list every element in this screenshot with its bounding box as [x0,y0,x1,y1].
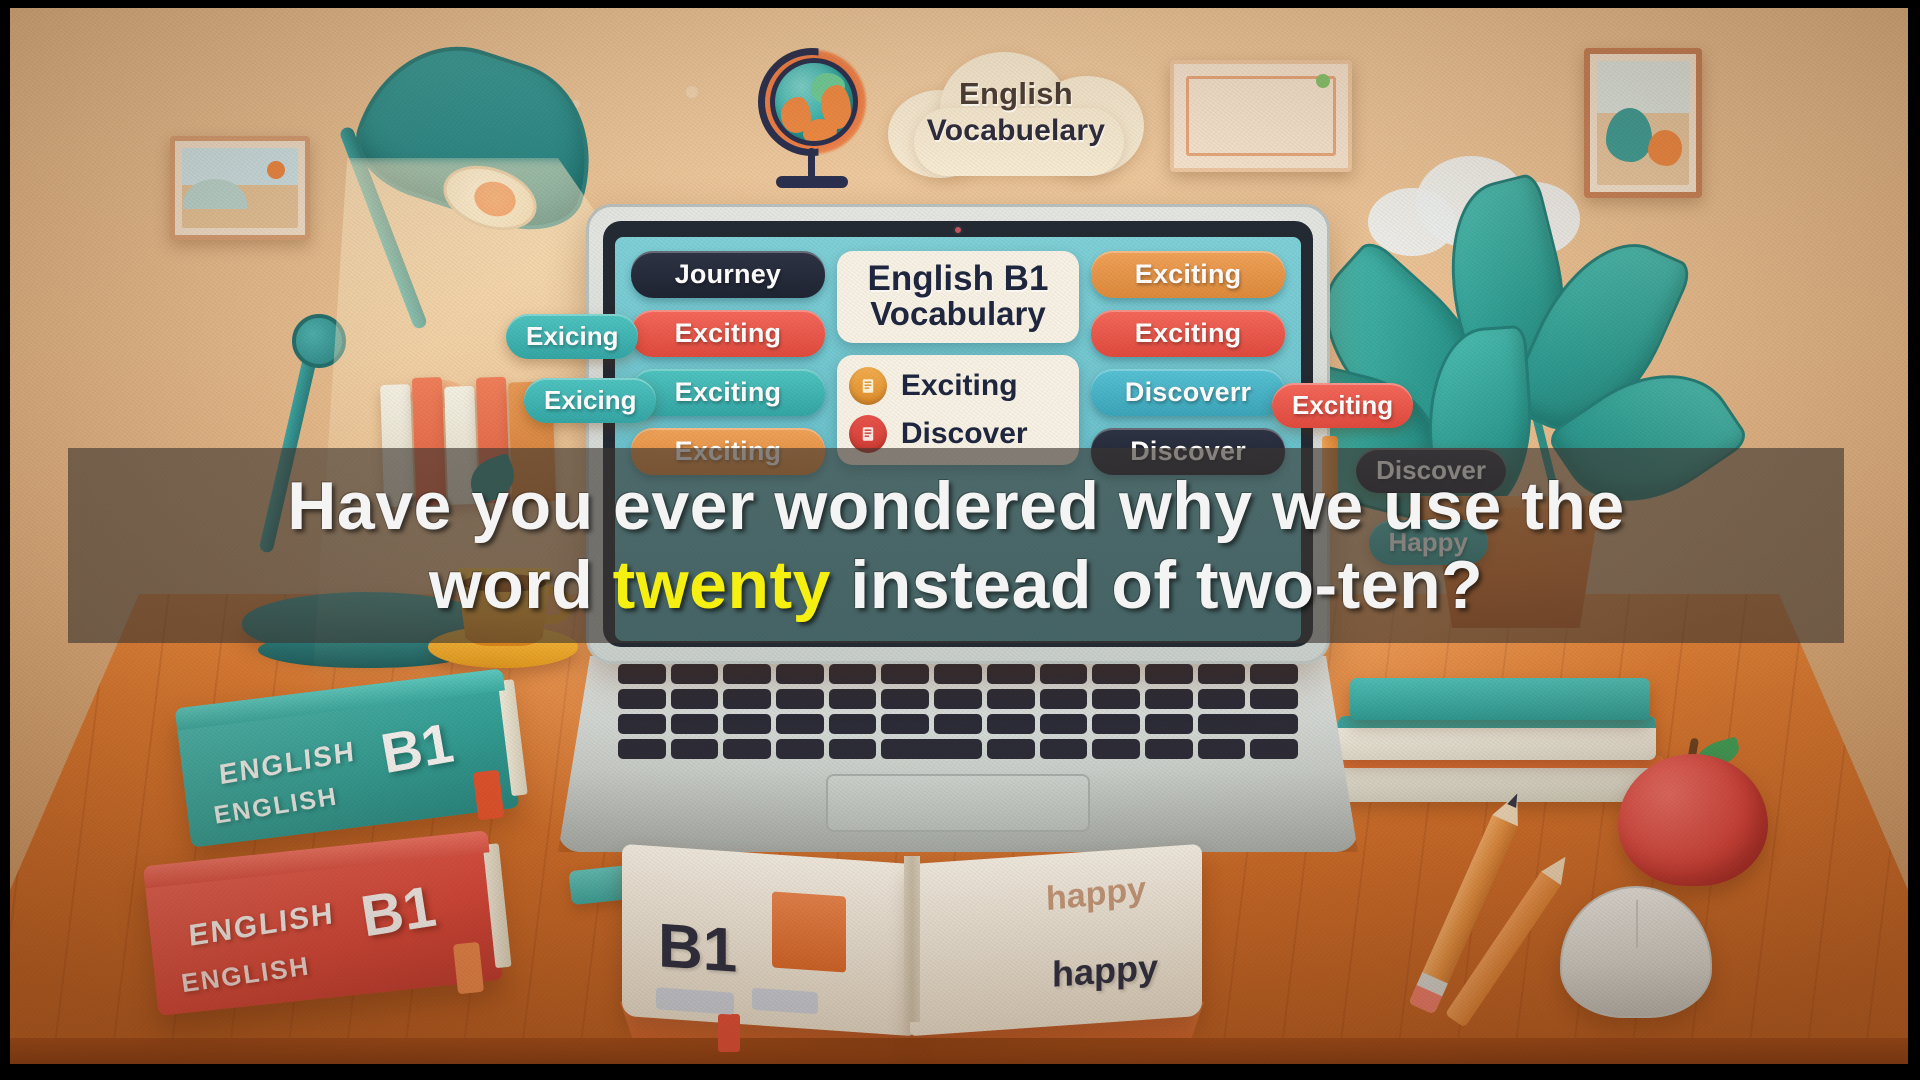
book-title-top: ENGLISH [218,735,357,791]
laptop-base [558,656,1358,852]
letterbox-bar-top [0,0,1920,8]
screen-title-line1: English B1 [849,261,1067,297]
screen-chip[interactable]: Discoverr [1091,369,1285,416]
notebook-word: happy [1052,946,1158,995]
notebook-color-block [772,891,846,972]
tag-exicing-left-2: Exicing [524,378,656,423]
list-item-label: Exciting [901,369,1018,403]
pillarbox-bar-left [0,0,10,1080]
list-item-label: Discover [901,417,1028,451]
wall-art-abstract-right [1584,48,1702,198]
letterbox-bar-bottom [0,1064,1920,1080]
notebook-level-label: B1 [658,910,737,987]
screen-chip[interactable]: Exciting [631,310,825,357]
art-blob-teal [1606,108,1652,162]
art-leaf-dot [1316,74,1330,88]
screen-chip[interactable]: Exciting [631,369,825,416]
laptop-trackpad[interactable] [826,774,1090,832]
book-spine-label: ENGLISH [212,782,340,830]
screen-chip[interactable]: Exciting [1091,310,1285,357]
open-notebook: B1 happy happy [622,846,1202,1026]
tag-exciting-signpost: Exciting [1272,383,1413,428]
book-icon [849,367,887,405]
book-level-label: B1 [356,873,440,951]
caption-line-1: Have you ever wondered why we use the [287,468,1624,544]
screen-title-card: English B1 Vocabulary [837,251,1079,343]
screen-chip[interactable]: Exciting [1091,251,1285,298]
globe-icon [752,44,874,196]
video-frame: English Vocabuelary [0,0,1920,1080]
title-cloud-badge: English Vocabuelary [888,46,1144,178]
book-title-top: ENGLISH [188,897,336,954]
notebook-sticker [752,988,818,1015]
screen-title-line2: Vocabulary [849,297,1067,332]
title-cloud-line2: Vocabuelary [927,114,1105,148]
desk-edge [10,1038,1908,1064]
wall-art-abstract-top [1170,60,1352,172]
webcam-icon [953,225,963,235]
caption-text-before: word [429,547,613,623]
caption-highlight-word: twenty [613,547,831,623]
laptop-keyboard [618,664,1298,759]
tag-exicing-left: Exicing [506,314,638,359]
book-spine-label: ENGLISH [179,950,312,999]
art-blob-orange [1648,130,1682,166]
list-item[interactable]: Exciting [849,367,1067,405]
caption-line-2: word twenty instead of two-ten? [429,547,1483,623]
subtitle-caption: Have you ever wondered why we use the wo… [68,448,1844,643]
wall-doodle-dot [686,86,698,98]
art-inner-border [1186,76,1336,156]
screen-chip[interactable]: Journey [631,251,825,298]
stacked-books [1328,664,1668,814]
title-cloud-line1: English [959,76,1073,112]
apple [1618,736,1768,886]
book-level-label: B1 [377,710,459,786]
caption-text-after: instead of two-ten? [831,547,1483,623]
pillarbox-bar-right [1908,0,1920,1080]
